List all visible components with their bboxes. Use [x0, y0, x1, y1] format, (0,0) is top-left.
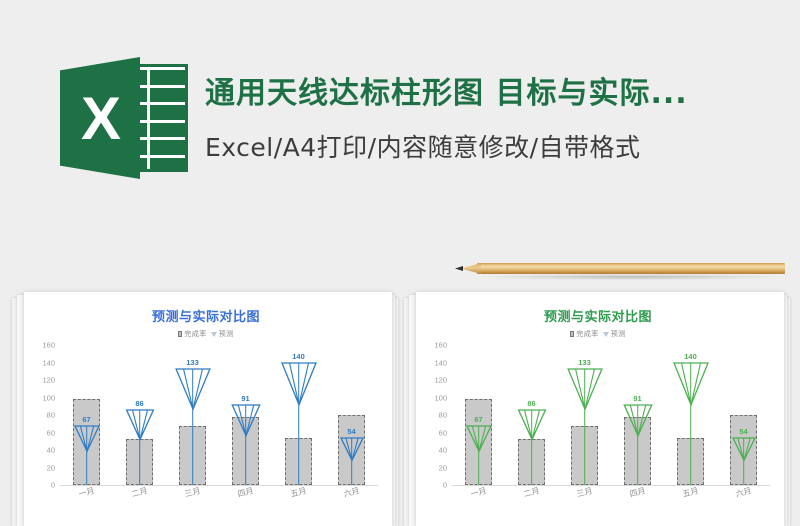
legend-item-forecast[interactable]: 预测: [211, 329, 234, 339]
y-axis-tick: 60: [439, 428, 447, 437]
data-label: 140: [292, 352, 305, 361]
chart-legend[interactable]: 完成率预测: [30, 329, 382, 339]
bar-group[interactable]: 67: [452, 345, 505, 485]
bar-group[interactable]: 91: [611, 345, 664, 485]
bar-group[interactable]: 133: [558, 345, 611, 485]
pencil-tip-wood: [461, 263, 481, 274]
bar-group[interactable]: 140: [272, 345, 325, 485]
plot-area: 67861339114054: [452, 345, 770, 486]
y-axis-tick: 100: [434, 393, 447, 402]
legend-bar-icon: [570, 331, 574, 337]
antenna-funnel-icon: [568, 369, 602, 409]
antenna-funnel-icon: [282, 363, 316, 405]
excel-grid-cell: [150, 140, 189, 155]
chart-card-right[interactable]: 预测与实际对比图完成率预测020406080100120140160678613…: [404, 292, 790, 526]
chart-left[interactable]: 预测与实际对比图完成率预测020406080100120140160678613…: [24, 292, 392, 526]
y-axis-tick: 60: [47, 428, 55, 437]
chart-title: 预测与实际对比图: [422, 306, 774, 325]
chart-title: 预测与实际对比图: [30, 306, 382, 325]
y-axis-tick: 20: [47, 463, 55, 472]
antenna-funnel-icon: [467, 426, 491, 451]
excel-grid-cell: [150, 70, 189, 85]
card-front-right: 预测与实际对比图完成率预测020406080100120140160678613…: [416, 292, 784, 526]
legend-triangle-icon: [211, 332, 217, 337]
antenna-funnel-icon: [75, 426, 99, 451]
antenna-funnel-icon: [232, 405, 260, 436]
y-axis-tick: 140: [42, 358, 55, 367]
y-axis-tick: 40: [439, 446, 447, 455]
chart-right[interactable]: 预测与实际对比图完成率预测020406080100120140160678613…: [416, 292, 784, 526]
bar-group[interactable]: 86: [113, 345, 166, 485]
y-axis-tick: 80: [47, 411, 55, 420]
antenna-funnel-icon: [624, 405, 652, 436]
y-axis-tick: 120: [434, 376, 447, 385]
y-axis-tick: 120: [42, 376, 55, 385]
excel-grid-cell: [150, 158, 189, 173]
antenna-funnel-icon: [518, 410, 545, 440]
data-label: 133: [578, 358, 591, 367]
data-label: 91: [241, 394, 249, 403]
bar-group[interactable]: 54: [325, 345, 378, 485]
excel-grid-cell: [150, 123, 189, 138]
excel-grid-cell: [150, 105, 189, 120]
y-axis: 020406080100120140160: [422, 345, 450, 485]
bar-group[interactable]: 140: [664, 345, 717, 485]
legend-triangle-icon: [603, 332, 609, 337]
legend-item-actual[interactable]: 完成率: [178, 329, 207, 339]
excel-logo-icon: X: [60, 57, 188, 179]
y-axis-tick: 40: [47, 446, 55, 455]
y-axis-tick: 0: [51, 481, 55, 490]
antenna-funnel-icon: [126, 410, 153, 440]
legend-label: 完成率: [576, 329, 599, 339]
x-axis: 一月二月三月四月五月六月: [60, 487, 378, 498]
data-label: 140: [684, 352, 697, 361]
excel-grid-cell: [150, 88, 189, 103]
header-banner: X 通用天线达标柱形图 目标与实际... Excel/A4打印/内容随意修改/自…: [0, 0, 800, 232]
legend-label: 预测: [219, 329, 234, 339]
page-title: 通用天线达标柱形图 目标与实际...: [205, 68, 688, 112]
y-axis-tick: 160: [42, 341, 55, 350]
excel-logo-letter: X: [60, 57, 140, 179]
chart-card-left[interactable]: 预测与实际对比图完成率预测020406080100120140160678613…: [12, 292, 398, 526]
y-axis-tick: 100: [42, 393, 55, 402]
plot-wrapper: 02040608010012014016067861339114054一月二月三…: [30, 345, 382, 505]
legend-bar-icon: [178, 331, 182, 337]
data-label: 133: [186, 358, 199, 367]
bar-group[interactable]: 86: [505, 345, 558, 485]
pencil-decoration: [455, 262, 785, 275]
bar-group[interactable]: 54: [717, 345, 770, 485]
antenna-funnel-icon: [340, 438, 362, 460]
bar-group[interactable]: 91: [219, 345, 272, 485]
page-subtitle: Excel/A4打印/内容随意修改/自带格式: [205, 128, 641, 164]
bars-container: 67861339114054: [452, 345, 770, 485]
antenna-funnel-icon: [176, 369, 210, 409]
data-label: 86: [135, 399, 143, 408]
data-label: 91: [633, 394, 641, 403]
data-label: 54: [739, 427, 747, 436]
y-axis-tick: 160: [434, 341, 447, 350]
y-axis-tick: 80: [439, 411, 447, 420]
data-label: 67: [474, 415, 482, 424]
data-label: 54: [347, 427, 355, 436]
antenna-funnel-icon: [732, 438, 754, 460]
card-front-left: 预测与实际对比图完成率预测020406080100120140160678613…: [24, 292, 392, 526]
pencil-shadow: [481, 274, 781, 280]
plot-area: 67861339114054: [60, 345, 378, 486]
antenna-funnel-icon: [674, 363, 708, 405]
legend-item-forecast[interactable]: 预测: [603, 329, 626, 339]
bar-group[interactable]: 67: [60, 345, 113, 485]
plot-wrapper: 02040608010012014016067861339114054一月二月三…: [422, 345, 774, 505]
x-axis: 一月二月三月四月五月六月: [452, 487, 770, 498]
chart-legend[interactable]: 完成率预测: [422, 329, 774, 339]
pencil-lead-icon: [455, 266, 463, 271]
pencil-body: [477, 263, 785, 274]
y-axis-tick: 140: [434, 358, 447, 367]
legend-label: 完成率: [184, 329, 207, 339]
legend-item-actual[interactable]: 完成率: [570, 329, 599, 339]
legend-label: 预测: [611, 329, 626, 339]
data-label: 86: [527, 399, 535, 408]
bar-group[interactable]: 133: [166, 345, 219, 485]
y-axis: 020406080100120140160: [30, 345, 58, 485]
data-label: 67: [82, 415, 90, 424]
bars-container: 67861339114054: [60, 345, 378, 485]
y-axis-tick: 0: [443, 481, 447, 490]
y-axis-tick: 20: [439, 463, 447, 472]
